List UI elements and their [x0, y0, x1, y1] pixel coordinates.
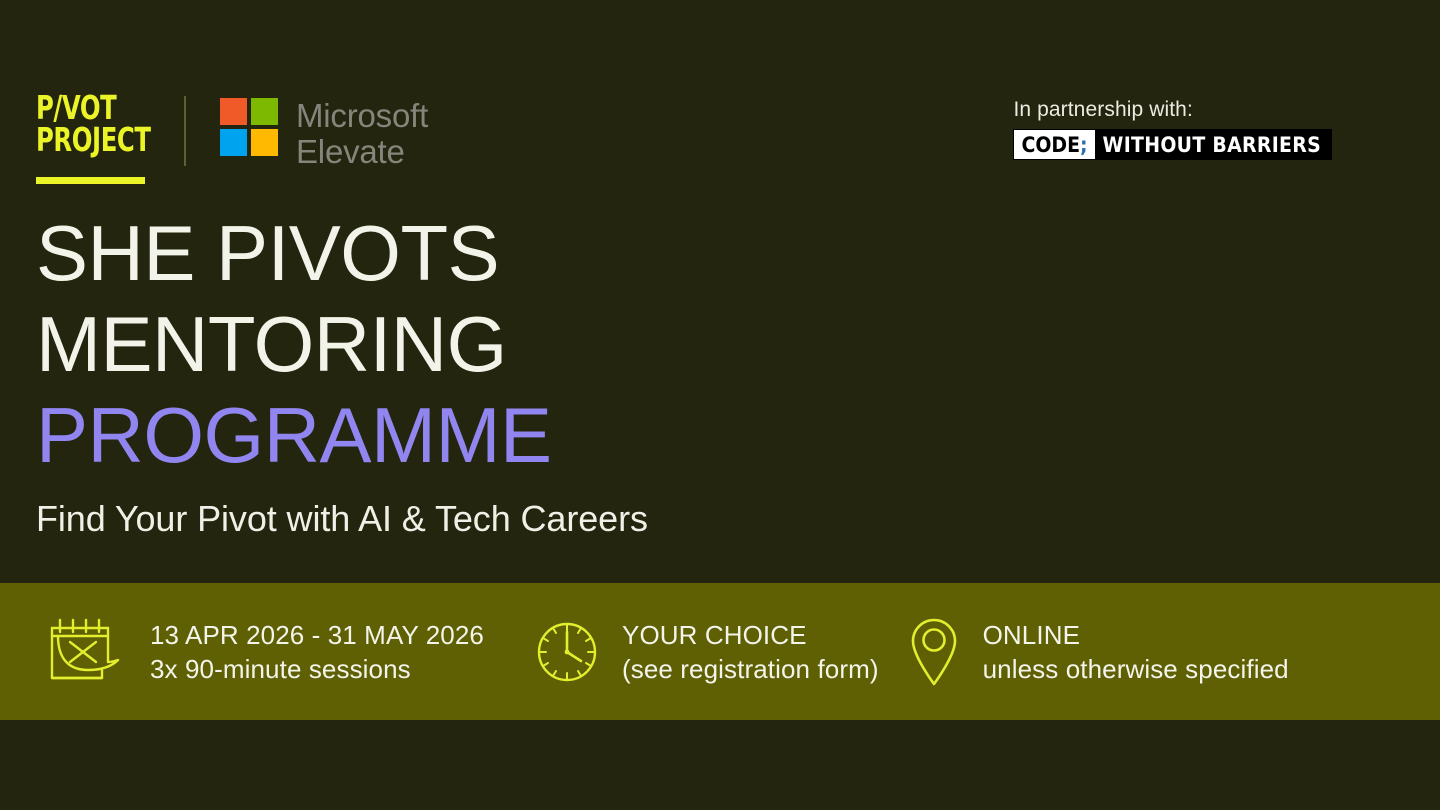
info-text-location: ONLINE unless otherwise specified — [983, 618, 1289, 686]
info-item-location: ONLINE unless otherwise specified — [907, 616, 1289, 688]
page-subtitle: Find Your Pivot with AI & Tech Careers — [36, 498, 648, 540]
event-info-bar: 13 APR 2026 - 31 MAY 2026 3x 90-minute s… — [0, 583, 1440, 720]
microsoft-wordmark: Microsoft Elevate — [296, 98, 428, 169]
info-primary-location: ONLINE — [983, 618, 1289, 652]
microsoft-wordmark-line1: Microsoft — [296, 98, 428, 134]
cwb-rest-text: WITHOUT BARRIERS — [1095, 130, 1331, 159]
headline-line-2: MENTORING — [36, 299, 552, 390]
info-item-dates: 13 APR 2026 - 31 MAY 2026 3x 90-minute s… — [40, 616, 484, 688]
headline-line-3: PROGRAMME — [36, 390, 552, 481]
info-secondary-time: (see registration form) — [622, 652, 879, 686]
pivot-logo-line2: PROJECT — [36, 124, 128, 156]
info-text-dates: 13 APR 2026 - 31 MAY 2026 3x 90-minute s… — [150, 618, 484, 686]
info-primary-dates: 13 APR 2026 - 31 MAY 2026 — [150, 618, 484, 652]
brand-logo-row: P/VOT PROJECT Microsoft Elevate — [36, 92, 428, 184]
square-yellow-icon — [251, 129, 278, 156]
calendar-icon — [40, 616, 128, 688]
square-blue-icon — [220, 129, 247, 156]
pivot-project-logo: P/VOT PROJECT — [36, 92, 148, 184]
info-primary-time: YOUR CHOICE — [622, 618, 879, 652]
microsoft-wordmark-line2: Elevate — [296, 134, 428, 170]
map-pin-icon — [907, 616, 961, 688]
partnership-label: In partnership with: — [1013, 98, 1332, 122]
partnership-block: In partnership with: CODE; WITHOUT BARRI… — [1013, 98, 1332, 160]
code-without-barriers-logo: CODE; WITHOUT BARRIERS — [1013, 129, 1332, 160]
headline-block: SHE PIVOTS MENTORING PROGRAMME — [36, 208, 552, 481]
info-item-time: YOUR CHOICE (see registration form) — [534, 618, 879, 686]
info-secondary-location: unless otherwise specified — [983, 652, 1289, 686]
cwb-semicolon: ; — [1080, 133, 1088, 157]
info-secondary-dates: 3x 90-minute sessions — [150, 652, 484, 686]
pivot-logo-underline — [36, 177, 145, 184]
microsoft-elevate-logo: Microsoft Elevate — [220, 98, 428, 169]
cwb-code-text: CODE — [1021, 133, 1080, 157]
info-text-time: YOUR CHOICE (see registration form) — [622, 618, 879, 686]
cwb-code-block: CODE; — [1014, 130, 1094, 159]
microsoft-squares-icon — [220, 98, 278, 156]
square-green-icon — [251, 98, 278, 125]
logo-divider — [184, 96, 186, 166]
square-red-icon — [220, 98, 247, 125]
headline-line-1: SHE PIVOTS — [36, 208, 552, 299]
clock-icon — [534, 619, 600, 685]
